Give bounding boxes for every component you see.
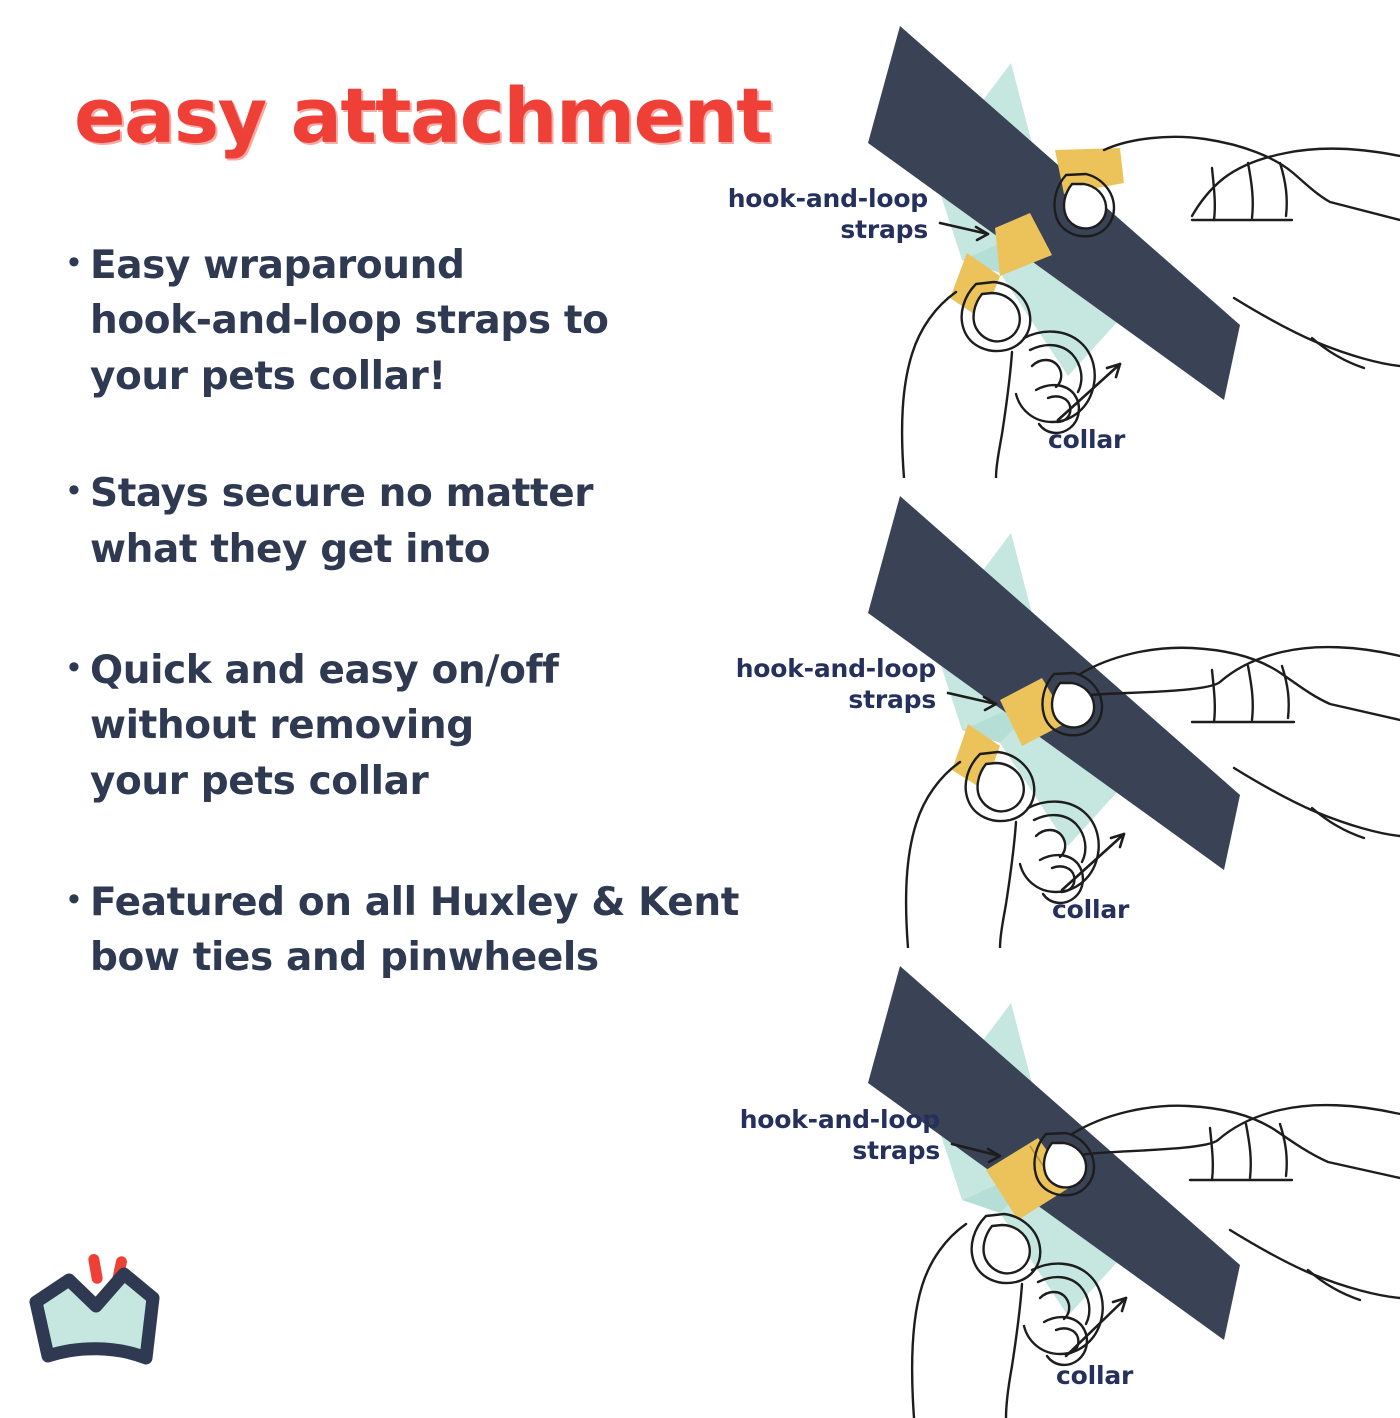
label-line-1: hook-and-loop xyxy=(736,654,936,683)
label-line-1: hook-and-loop xyxy=(740,1105,940,1134)
label-text: collar xyxy=(1048,425,1126,454)
illustration-step-3: hook-and-loop straps collar xyxy=(700,948,1400,1418)
label-collar: collar xyxy=(1052,834,1130,924)
bullet-marker-icon: • xyxy=(68,876,90,922)
label-collar: collar xyxy=(1048,364,1126,454)
illustration-step-1: hook-and-loop straps collar xyxy=(700,8,1400,478)
illustration-step-2: hook-and-loop straps collar xyxy=(700,478,1400,948)
bullet-marker-icon: • xyxy=(68,467,90,513)
brand-logo xyxy=(26,1246,196,1378)
label-text: collar xyxy=(1056,1361,1134,1390)
label-line-2: straps xyxy=(840,215,928,244)
bullet-marker-icon: • xyxy=(68,644,90,690)
label-text: collar xyxy=(1052,895,1130,924)
infographic-page: easy attachment • Easy wraparound hook-a… xyxy=(0,0,1400,1400)
crown-icon xyxy=(36,1274,153,1358)
bullet-marker-icon: • xyxy=(68,239,90,285)
page-title: easy attachment xyxy=(74,78,771,154)
arrow-to-collar xyxy=(1062,834,1124,890)
label-line-1: hook-and-loop xyxy=(728,184,928,213)
label-line-2: straps xyxy=(848,685,936,714)
label-line-2: straps xyxy=(852,1136,940,1165)
